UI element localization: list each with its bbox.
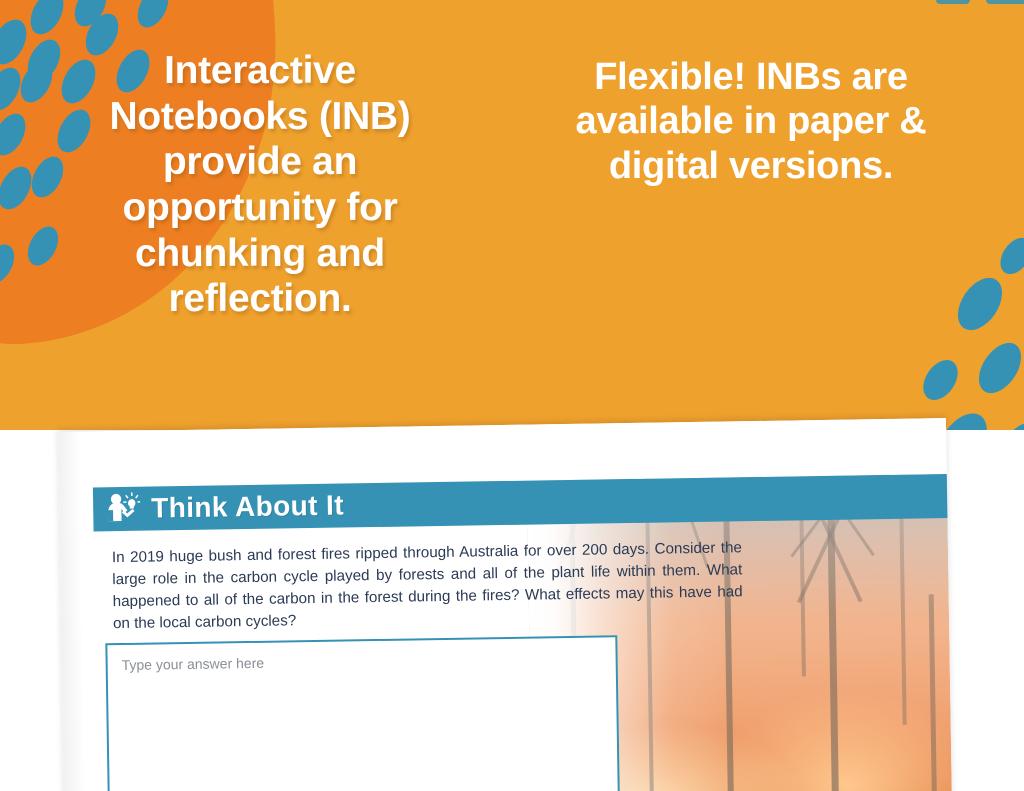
worksheet-document: Think About It In 2019 huge bush and for…: [58, 418, 952, 791]
worksheet-title: Think About It: [151, 490, 344, 525]
slide-canvas: Interactive Notebooks (INB) provide an o…: [0, 0, 1024, 791]
worksheet-prompt-text: In 2019 huge bush and forest fires rippe…: [112, 537, 743, 634]
sheet-inner-shadow: [58, 432, 86, 791]
answer-input-box[interactable]: Type your answer here: [105, 635, 620, 791]
right-headline: Flexible! INBs are available in paper & …: [556, 55, 946, 188]
answer-placeholder-text: Type your answer here: [122, 655, 265, 673]
person-with-lightbulb-icon: [106, 491, 141, 527]
left-headline: Interactive Notebooks (INB) provide an o…: [60, 48, 460, 322]
